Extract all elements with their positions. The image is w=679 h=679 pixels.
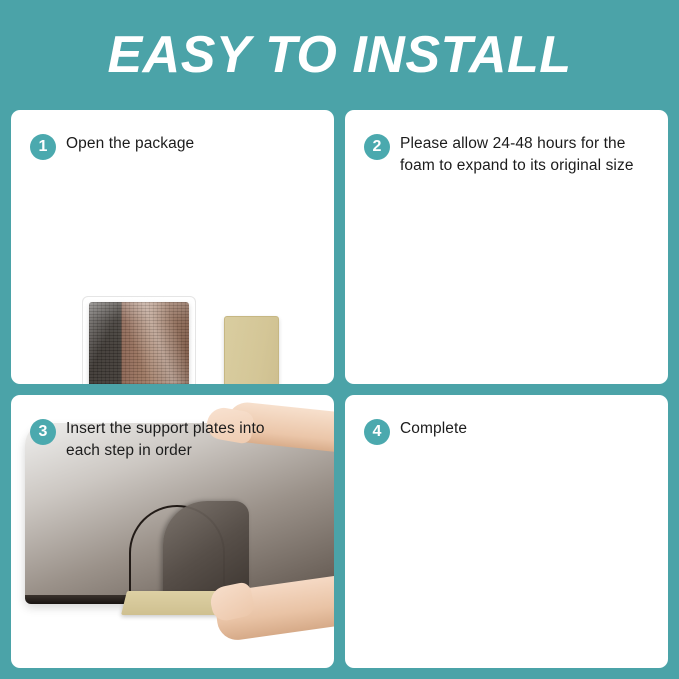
infographic-root: EASY TO INSTALL ▣ ◌ ♺ 1 Open the package — [0, 0, 679, 679]
step-number-badge-3: 3 — [30, 419, 56, 445]
steps-grid: ▣ ◌ ♺ 1 Open the package — [0, 110, 679, 679]
header-banner: EASY TO INSTALL — [0, 0, 679, 110]
step-3-header: 3 Insert the support plates into each st… — [11, 395, 334, 462]
package-wrinkles — [89, 302, 189, 384]
step-2-title: Please allow 24-48 hours for the foam to… — [400, 133, 635, 177]
support-plate-icon — [224, 316, 279, 384]
step-card-4[interactable]: 4 Complete — [345, 395, 668, 669]
step-number-badge-4: 4 — [364, 419, 390, 445]
step-1-title: Open the package — [66, 133, 194, 155]
step-4-header: 4 Complete — [345, 395, 668, 445]
step-3-title: Insert the support plates into each step… — [66, 418, 301, 462]
page-title: EASY TO INSTALL — [108, 29, 572, 81]
step-1-header: 1 Open the package — [11, 110, 334, 160]
step-card-3[interactable]: 3 Insert the support plates into each st… — [11, 395, 334, 669]
step-2-header: 2 Please allow 24-48 hours for the foam … — [345, 110, 668, 177]
vacuum-sealed-package-icon: ▣ ◌ ♺ — [89, 302, 189, 384]
step-card-1[interactable]: ▣ ◌ ♺ 1 Open the package — [11, 110, 334, 384]
step-4-title: Complete — [400, 418, 467, 440]
step-number-badge-2: 2 — [364, 134, 390, 160]
step-card-2[interactable]: 24-48 2 Please allow 24-48 hours for the… — [345, 110, 668, 384]
step-number-badge-1: 1 — [30, 134, 56, 160]
